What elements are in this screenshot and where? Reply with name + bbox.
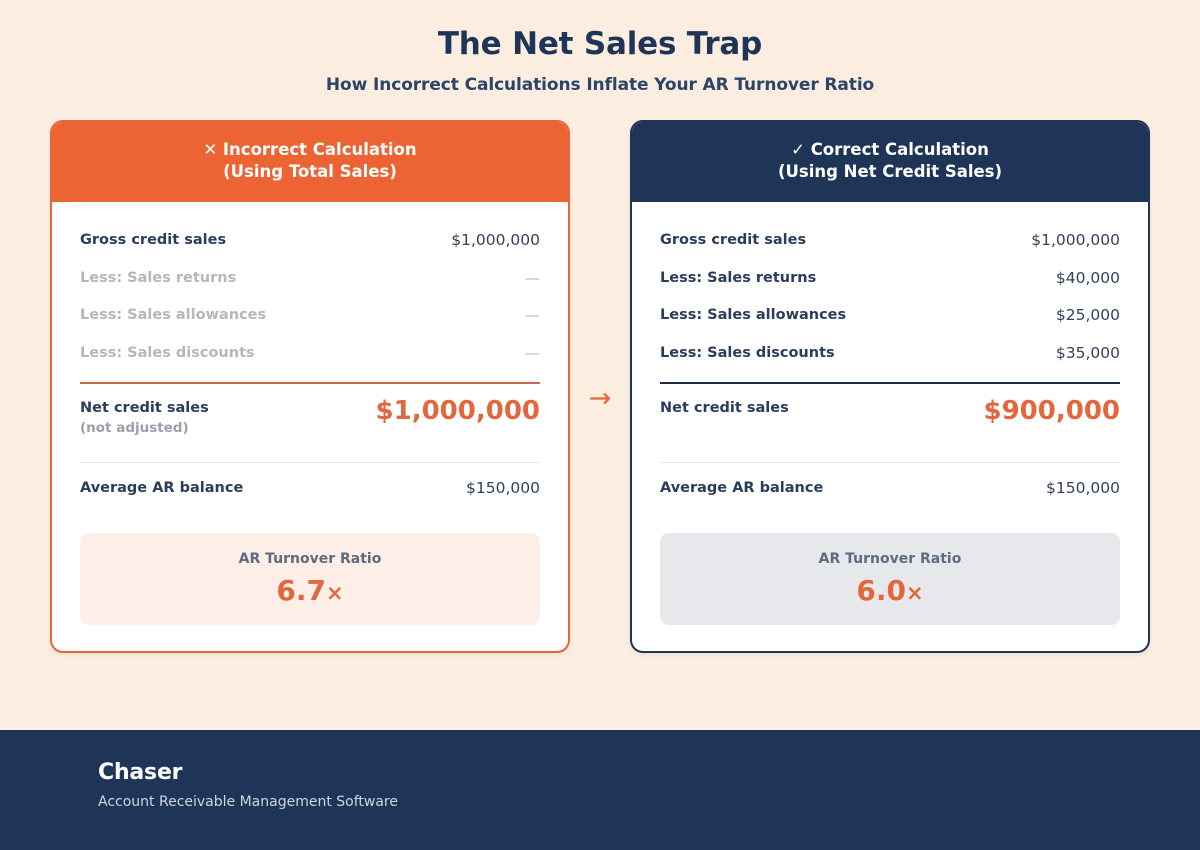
page-header: The Net Sales Trap How Incorrect Calcula… bbox=[0, 0, 1200, 95]
ar-turnover-ratio-value: 6.0× bbox=[670, 577, 1110, 605]
row-label: Less: Sales allowances bbox=[660, 306, 846, 326]
row-label: Less: Sales discounts bbox=[80, 344, 255, 364]
table-row: Less: Sales returns — bbox=[80, 260, 540, 298]
table-row: Gross credit sales $1,000,000 bbox=[80, 222, 540, 260]
incorrect-card-body: Gross credit sales $1,000,000 Less: Sale… bbox=[52, 202, 568, 651]
correct-card-body: Gross credit sales $1,000,000 Less: Sale… bbox=[632, 202, 1148, 651]
table-row: Less: Sales discounts $35,000 bbox=[660, 335, 1120, 373]
row-label: Gross credit sales bbox=[80, 231, 226, 251]
cross-icon: ✕ bbox=[203, 140, 217, 159]
row-value: $25,000 bbox=[1056, 306, 1120, 324]
row-value: — bbox=[525, 344, 541, 362]
page-title: The Net Sales Trap bbox=[0, 27, 1200, 61]
row-label: Less: Sales returns bbox=[660, 269, 816, 289]
net-credit-sales-row: Net credit sales (not adjusted) $1,000,0… bbox=[80, 384, 540, 462]
average-ar-balance-row: Average AR balance $150,000 bbox=[660, 463, 1120, 499]
row-value: $1,000,000 bbox=[451, 231, 540, 249]
footer-bar: Chaser Account Receivable Management Sof… bbox=[0, 730, 1200, 850]
row-value: — bbox=[525, 269, 541, 287]
net-credit-sales-label-text: Net credit sales bbox=[80, 400, 209, 416]
ar-turnover-ratio-box: AR Turnover Ratio 6.7× bbox=[80, 533, 540, 625]
row-value: — bbox=[525, 306, 541, 324]
correct-calculation-card: ✓ Correct Calculation (Using Net Credit … bbox=[630, 120, 1150, 653]
net-credit-sales-label-text: Net credit sales bbox=[660, 400, 789, 416]
incorrect-calculation-card: ✕ Incorrect Calculation (Using Total Sal… bbox=[50, 120, 570, 653]
net-credit-sales-label: Net credit sales (not adjusted) bbox=[80, 398, 209, 437]
net-credit-sales-row: Net credit sales $900,000 bbox=[660, 384, 1120, 462]
row-value: $40,000 bbox=[1056, 269, 1120, 287]
table-row: Gross credit sales $1,000,000 bbox=[660, 222, 1120, 260]
table-row: Less: Sales allowances $25,000 bbox=[660, 297, 1120, 335]
ar-turnover-ratio-label: AR Turnover Ratio bbox=[670, 551, 1110, 567]
page-subtitle: How Incorrect Calculations Inflate Your … bbox=[0, 75, 1200, 95]
net-credit-sales-label: Net credit sales bbox=[660, 398, 789, 418]
ar-turnover-ratio-value: 6.7× bbox=[90, 577, 530, 605]
average-ar-balance-row: Average AR balance $150,000 bbox=[80, 463, 540, 499]
table-row: Less: Sales allowances — bbox=[80, 297, 540, 335]
check-icon: ✓ bbox=[791, 140, 805, 159]
incorrect-card-header-line2: (Using Total Sales) bbox=[72, 161, 548, 183]
ratio-number: 6.0 bbox=[856, 574, 906, 607]
row-value: $1,000,000 bbox=[1031, 231, 1120, 249]
average-ar-balance-value: $150,000 bbox=[466, 479, 540, 497]
ratio-multiplier-icon: × bbox=[326, 581, 344, 605]
ratio-number: 6.7 bbox=[276, 574, 326, 607]
ratio-multiplier-icon: × bbox=[906, 581, 924, 605]
average-ar-balance-label: Average AR balance bbox=[80, 479, 243, 499]
net-credit-sales-value: $900,000 bbox=[983, 398, 1120, 425]
brand-logo-text: Chaser bbox=[98, 760, 1200, 785]
correct-card-header-line2: (Using Net Credit Sales) bbox=[652, 161, 1128, 183]
row-label: Less: Sales allowances bbox=[80, 306, 266, 326]
incorrect-card-header: ✕ Incorrect Calculation (Using Total Sal… bbox=[52, 122, 568, 202]
row-value: $35,000 bbox=[1056, 344, 1120, 362]
average-ar-balance-value: $150,000 bbox=[1046, 479, 1120, 497]
comparison-cards-area: ✕ Incorrect Calculation (Using Total Sal… bbox=[0, 120, 1200, 653]
net-credit-sales-sublabel: (not adjusted) bbox=[80, 419, 209, 438]
correct-card-header: ✓ Correct Calculation (Using Net Credit … bbox=[632, 122, 1148, 202]
arrow-right-icon: → bbox=[578, 385, 622, 412]
table-row: Less: Sales discounts — bbox=[80, 335, 540, 373]
brand-tagline: Account Receivable Management Software bbox=[98, 794, 1200, 810]
average-ar-balance-label: Average AR balance bbox=[660, 479, 823, 499]
ar-turnover-ratio-box: AR Turnover Ratio 6.0× bbox=[660, 533, 1120, 625]
correct-card-header-line1: Correct Calculation bbox=[811, 140, 989, 159]
row-label: Less: Sales returns bbox=[80, 269, 236, 289]
table-row: Less: Sales returns $40,000 bbox=[660, 260, 1120, 298]
incorrect-card-header-line1: Incorrect Calculation bbox=[223, 140, 417, 159]
row-label: Less: Sales discounts bbox=[660, 344, 835, 364]
row-label: Gross credit sales bbox=[660, 231, 806, 251]
ar-turnover-ratio-label: AR Turnover Ratio bbox=[90, 551, 530, 567]
net-credit-sales-value: $1,000,000 bbox=[376, 398, 540, 425]
